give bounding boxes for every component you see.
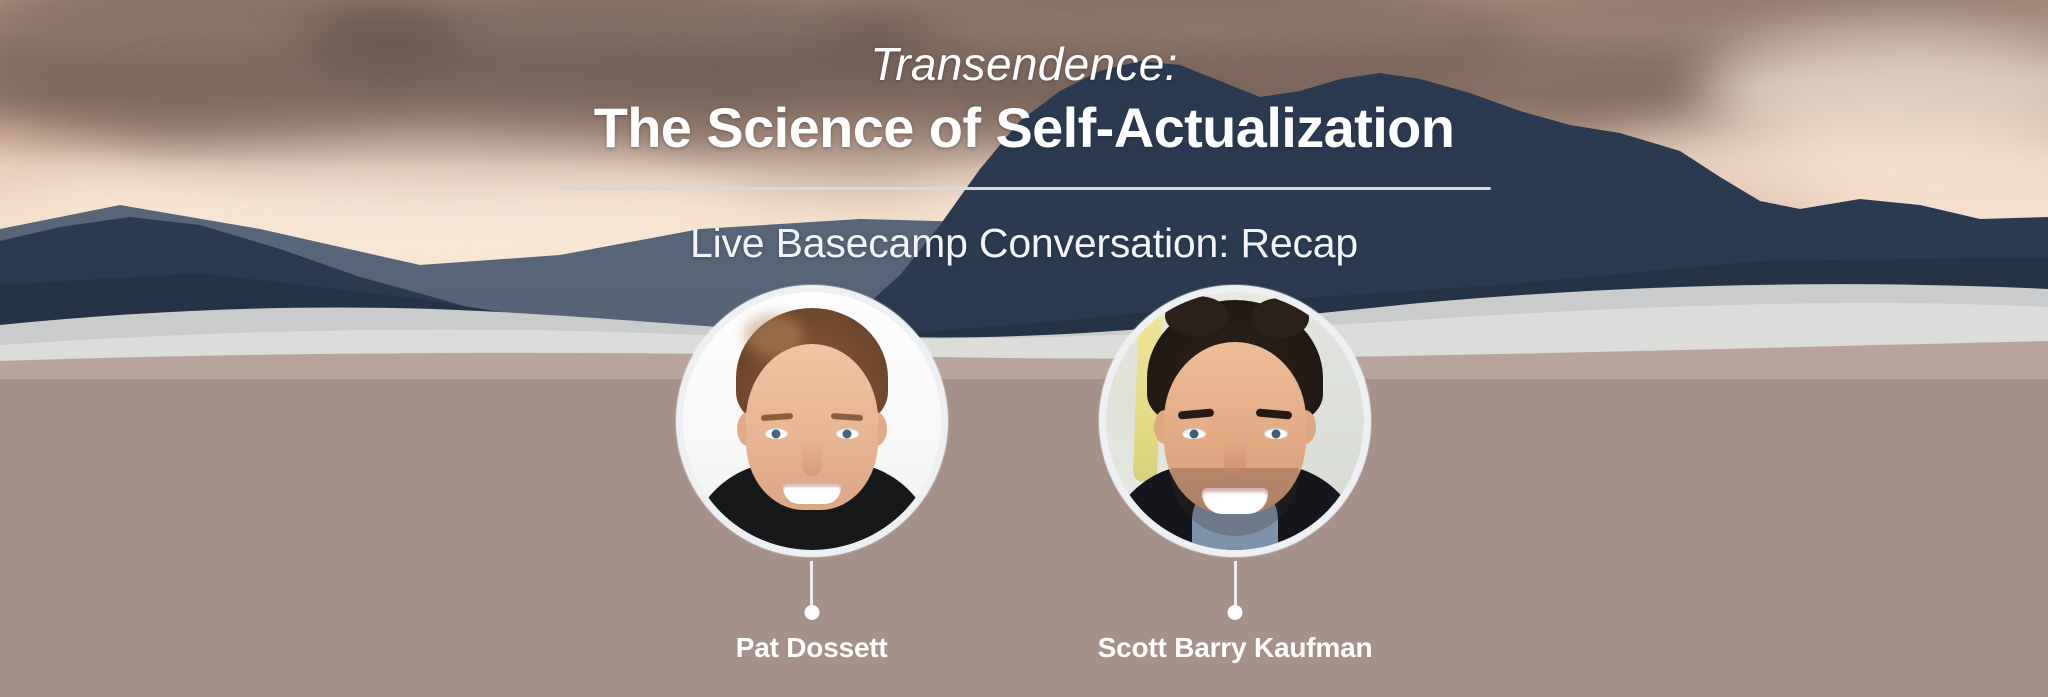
speaker-name: Pat Dossett <box>736 632 888 664</box>
banner-title-italic: Transendence: <box>0 38 2048 91</box>
banner-text-block: Transendence: The Science of Self-Actual… <box>0 0 2048 267</box>
connector-dot-icon <box>1228 605 1243 620</box>
connector-dot-icon <box>804 605 819 620</box>
avatar-image-scott-barry-kaufman <box>1106 292 1364 550</box>
event-banner: Transendence: The Science of Self-Actual… <box>0 0 2048 697</box>
speaker-list: Pat Dossett <box>0 285 2048 664</box>
title-divider <box>557 187 1491 190</box>
speaker-connector-line <box>1234 561 1237 613</box>
speaker-name: Scott Barry Kaufman <box>1098 632 1373 664</box>
speaker-connector-line <box>810 561 813 613</box>
banner-title-main: The Science of Self-Actualization <box>0 97 2048 159</box>
avatar[interactable] <box>676 285 948 557</box>
avatar-image-pat-dossett <box>683 292 941 550</box>
avatar[interactable] <box>1099 285 1371 557</box>
speaker-card[interactable]: Scott Barry Kaufman <box>1098 285 1373 664</box>
speaker-card[interactable]: Pat Dossett <box>676 285 948 664</box>
banner-subtitle: Live Basecamp Conversation: Recap <box>0 220 2048 267</box>
